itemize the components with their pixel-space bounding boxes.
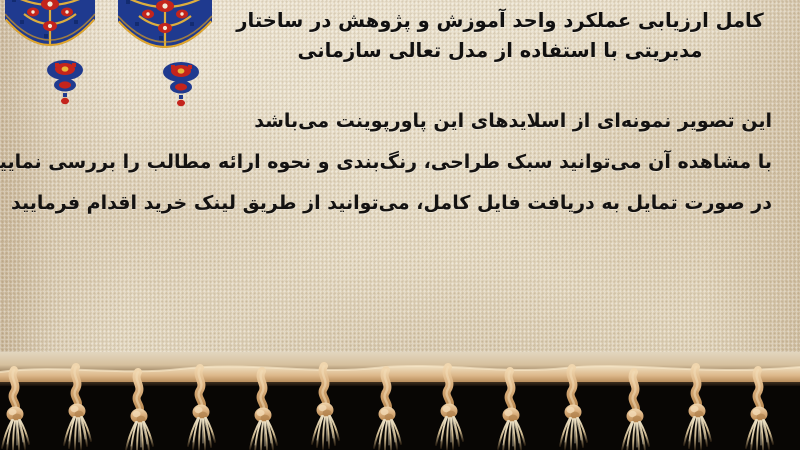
tassel-fringe-svg [0,352,800,450]
title-line-2: مدیریتی با استفاده از مدل تعالی سازمانی [230,36,770,66]
text-layer: کامل ارزیابی عملکرد واحد آموزش و پژوهش د… [0,0,800,380]
slide-title: کامل ارزیابی عملکرد واحد آموزش و پژوهش د… [230,6,770,66]
title-line-1: کامل ارزیابی عملکرد واحد آموزش و پژوهش د… [230,6,770,36]
body-line-2: با مشاهده آن می‌توانید سبک طراحی، رنگ‌بن… [28,153,772,172]
body-line-3: در صورت تمایل به دریافت فایل کامل، می‌تو… [28,194,772,213]
slide-body: این تصویر نمونه‌ای از اسلایدهای این پاور… [28,112,772,213]
slide-canvas: کامل ارزیابی عملکرد واحد آموزش و پژوهش د… [0,0,800,450]
body-line-1: این تصویر نمونه‌ای از اسلایدهای این پاور… [28,112,772,131]
fringe-zone [0,352,800,450]
